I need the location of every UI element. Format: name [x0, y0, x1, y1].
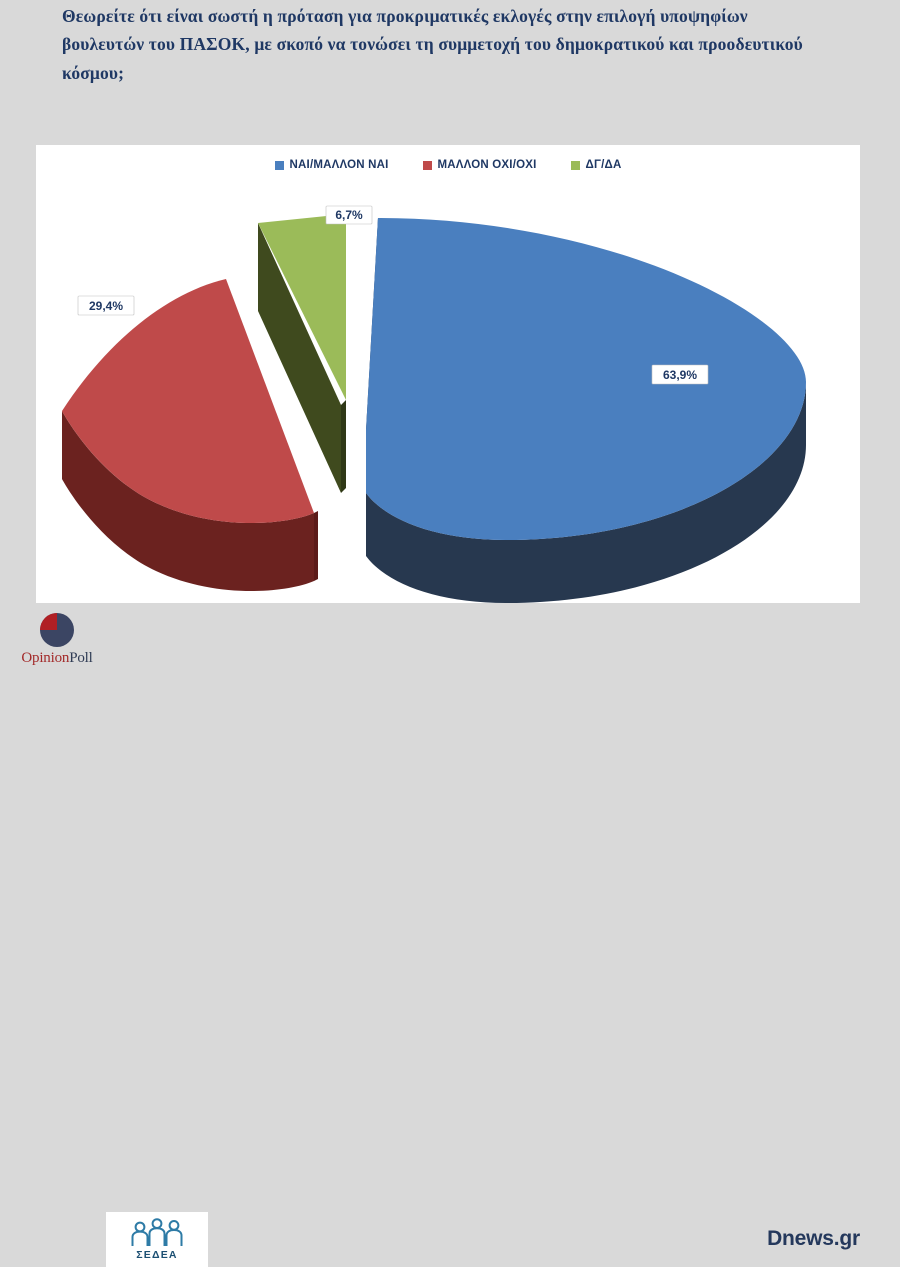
- legend-item-yes[interactable]: ΝΑΙ/ΜΑΛΛΟΝ ΝΑΙ: [275, 159, 389, 171]
- pie-label-no-text: 29,4%: [89, 299, 123, 313]
- sedea-people-icon: [126, 1218, 188, 1248]
- chart-legend: ΝΑΙ/ΜΑΛΛΟΝ ΝΑΙ ΜΑΛΛΟΝ ΟΧΙ/ΟΧΙ ΔΓ/ΔΑ: [36, 159, 860, 171]
- chart-panel: ΝΑΙ/ΜΑΛΛΟΝ ΝΑΙ ΜΑΛΛΟΝ ΟΧΙ/ΟΧΙ ΔΓ/ΔΑ: [36, 145, 860, 603]
- opinionpoll-mark-icon: [14, 611, 100, 651]
- opinionpoll-wordmark: OpinionPoll: [14, 650, 100, 667]
- legend-swatch-blue-icon: [275, 161, 284, 170]
- pie-slice-yes-top-notch: [366, 218, 378, 430]
- source-watermark: Dnews.gr: [767, 1227, 860, 1251]
- legend-label-yes: ΝΑΙ/ΜΑΛΛΟΝ ΝΑΙ: [290, 159, 389, 171]
- footer: OpinionPoll ΣΕΔΕΑ Dnews.gr: [0, 603, 900, 672]
- pie-label-dk-text: 6,7%: [335, 208, 363, 222]
- sedea-wordmark: ΣΕΔΕΑ: [136, 1249, 177, 1261]
- opinionpoll-word-first: Opinion: [21, 650, 69, 666]
- pie-chart-3d: 6,7% 29,4% 63,9%: [36, 183, 860, 603]
- pie-label-dk: 6,7%: [326, 206, 372, 224]
- legend-item-no[interactable]: ΜΑΛΛΟΝ ΟΧΙ/ΟΧΙ: [423, 159, 537, 171]
- sedea-logo: ΣΕΔΕΑ: [106, 1212, 208, 1267]
- opinionpoll-logo: OpinionPoll: [14, 611, 100, 667]
- pie-label-yes-text: 63,9%: [663, 368, 697, 382]
- pie-slice-no-side-right: [314, 511, 318, 581]
- pie-slice-dk-side-right: [341, 400, 346, 493]
- legend-item-dk[interactable]: ΔΓ/ΔΑ: [571, 159, 622, 171]
- pie-label-no: 29,4%: [78, 296, 134, 315]
- legend-label-no: ΜΑΛΛΟΝ ΟΧΙ/ΟΧΙ: [438, 159, 537, 171]
- poll-question: Θεωρείτε ότι είναι σωστή η πρόταση για π…: [62, 2, 822, 87]
- legend-swatch-red-icon: [423, 161, 432, 170]
- pie-slice-yes[interactable]: [366, 218, 806, 603]
- legend-label-dk: ΔΓ/ΔΑ: [586, 159, 622, 171]
- legend-swatch-green-icon: [571, 161, 580, 170]
- pie-label-yes: 63,9%: [652, 365, 708, 384]
- opinionpoll-word-second: Poll: [69, 650, 92, 666]
